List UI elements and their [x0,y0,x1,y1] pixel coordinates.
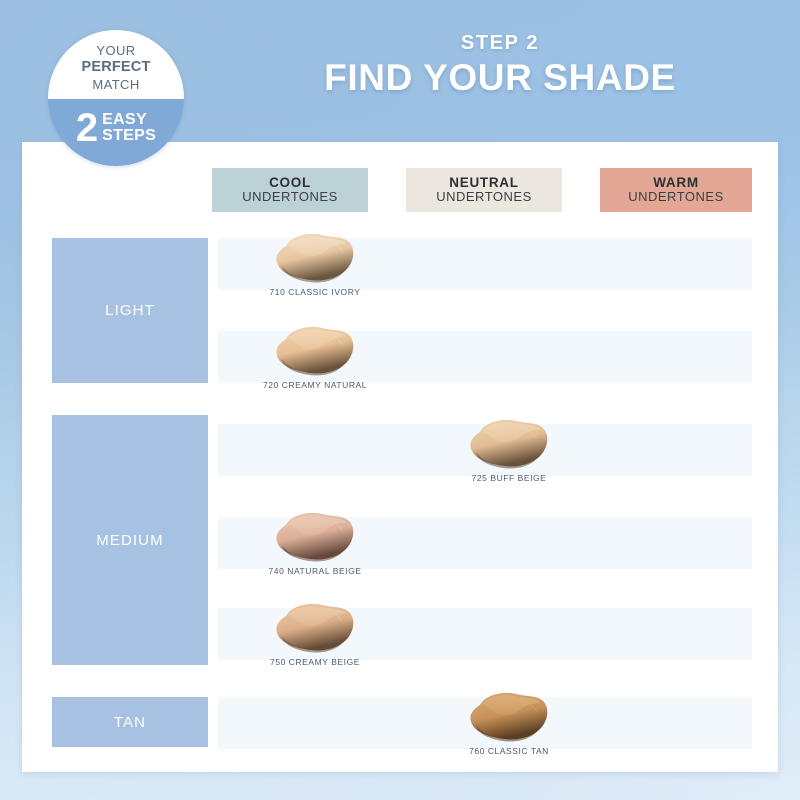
shade-label-750: 750 CREAMY BEIGE [270,657,360,667]
foundation-swatch-760 [466,691,552,743]
foundation-swatch-710 [272,232,358,284]
column-header-cool-subtitle: UNDERTONES [242,190,338,205]
column-header-cool-title: COOL [269,175,311,190]
shade-label-710: 710 CLASSIC IVORY [270,287,361,297]
column-header-neutral-subtitle: UNDERTONES [436,190,532,205]
column-header-warm-subtitle: UNDERTONES [628,190,724,205]
level-block-light: LIGHT [52,238,208,383]
shade-label-725: 725 BUFF BEIGE [472,473,547,483]
page-title: FIND YOUR SHADE [230,57,770,98]
foundation-swatch-740 [272,511,358,563]
column-header-neutral-title: NEUTRAL [449,175,518,190]
foundation-swatch-750 [272,602,358,654]
shade-label-760: 760 CLASSIC TAN [469,746,549,756]
step-label: STEP 2 [230,32,770,55]
badge-line-3: MATCH [92,77,139,93]
shade-cell-750[interactable]: 750 CREAMY BEIGE [225,602,405,667]
badge-step-words: EASY STEPS [102,112,156,145]
page-header: STEP 2 FIND YOUR SHADE [230,32,770,98]
badge-word-steps: STEPS [102,128,156,144]
undertone-column-headers: COOL UNDERTONES NEUTRAL UNDERTONES WARM … [212,168,752,212]
column-header-cool: COOL UNDERTONES [212,168,368,212]
level-block-tan: TAN [52,697,208,747]
level-block-medium: MEDIUM [52,415,208,665]
shade-label-720: 720 CREAMY NATURAL [263,380,367,390]
shade-cell-725[interactable]: 725 BUFF BEIGE [419,418,599,483]
shade-chart-panel: COOL UNDERTONES NEUTRAL UNDERTONES WARM … [22,142,778,772]
badge-step-number: 2 [76,111,98,146]
column-header-warm-title: WARM [653,175,699,190]
column-header-warm: WARM UNDERTONES [600,168,752,212]
shade-cell-710[interactable]: 710 CLASSIC IVORY [225,232,405,297]
column-header-neutral: NEUTRAL UNDERTONES [406,168,562,212]
shade-cell-720[interactable]: 720 CREAMY NATURAL [225,325,405,390]
perfect-match-badge: YOUR PERFECT MATCH 2 EASY STEPS [48,30,184,166]
badge-word-easy: EASY [102,112,156,128]
foundation-swatch-725 [466,418,552,470]
foundation-swatch-720 [272,325,358,377]
shade-cell-760[interactable]: 760 CLASSIC TAN [419,691,599,756]
shade-label-740: 740 NATURAL BEIGE [269,566,362,576]
shade-cell-740[interactable]: 740 NATURAL BEIGE [225,511,405,576]
badge-top-section: YOUR PERFECT MATCH [48,30,184,99]
badge-line-1: YOUR [96,43,135,59]
badge-line-2: PERFECT [81,59,150,77]
